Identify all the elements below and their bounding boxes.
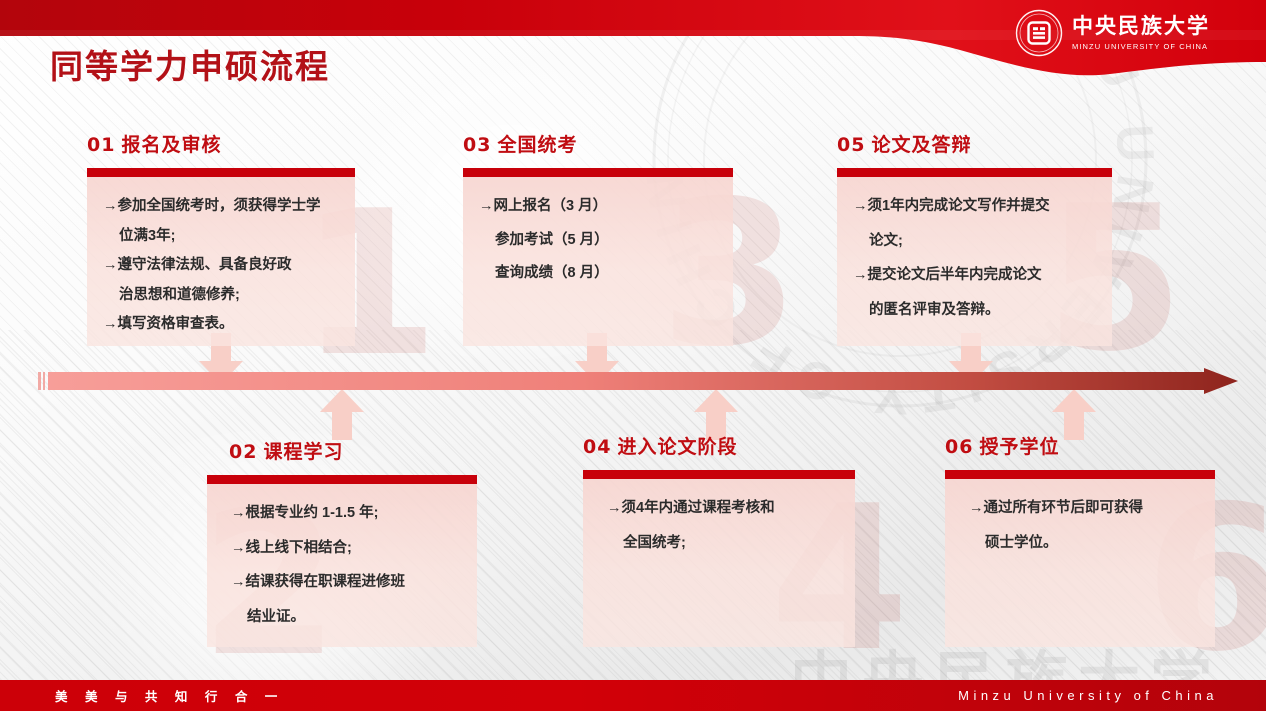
- step-card-05-header: 05论文及答辩: [837, 130, 1112, 157]
- step-line: 治思想和道德修养;: [103, 288, 339, 303]
- step-line: →根据专业约 1-1.5 年;: [231, 506, 461, 521]
- step-card-01-header: 01报名及审核: [87, 130, 355, 157]
- step-line: 位满3年;: [103, 229, 339, 244]
- step-number: 01: [87, 134, 115, 156]
- step-line: 的匿名评审及答辩。: [853, 303, 1096, 318]
- step-line: →提交论文后半年内完成论文: [853, 268, 1096, 283]
- step-line: →遵守法律法规、具备良好政: [103, 258, 339, 273]
- step-card-06-accent-bar: [945, 470, 1215, 479]
- step-line: →须4年内通过课程考核和: [607, 501, 839, 516]
- step-card-04-accent-bar: [583, 470, 855, 479]
- step-card-05-body: →须1年内完成论文写作并提交 论文; →提交论文后半年内完成论文 的匿名评审及答…: [837, 177, 1112, 346]
- step-line: →须1年内完成论文写作并提交: [853, 199, 1096, 214]
- step-name: 进入论文阶段: [617, 437, 737, 458]
- step-name: 授予学位: [979, 437, 1059, 458]
- university-seal-icon: [1015, 9, 1063, 57]
- step-card-02-body: →根据专业约 1-1.5 年; →线上线下相结合; →结课获得在职课程进修班 结…: [207, 484, 477, 647]
- step-name: 论文及答辩: [871, 135, 971, 156]
- step-card-01-body: →参加全国统考时，须获得学士学 位满3年; →遵守法律法规、具备良好政 治思想和…: [87, 177, 355, 346]
- page-title: 同等学力申硕流程: [50, 40, 330, 88]
- logo-name-cn: 中央民族大学: [1072, 16, 1210, 37]
- step-line: →填写资格审查表。: [103, 317, 339, 332]
- step-line: 硕士学位。: [969, 536, 1199, 551]
- timeline-arrow: [38, 368, 1238, 394]
- step-number: 05: [837, 134, 865, 156]
- step-line: →结课获得在职课程进修班: [231, 575, 461, 590]
- step-number: 02: [229, 441, 257, 463]
- step-card-02-accent-bar: [207, 475, 477, 484]
- footer-bar: 美 美 与 共 知 行 合 一 Minzu University of Chin…: [0, 680, 1266, 711]
- step-number: 06: [945, 436, 973, 458]
- step-card-02[interactable]: 02课程学习 →根据专业约 1-1.5 年; →线上线下相结合; →结课获得在职…: [207, 437, 477, 647]
- step-card-06-body: →通过所有环节后即可获得 硕士学位。: [945, 479, 1215, 647]
- step-line: →通过所有环节后即可获得: [969, 501, 1199, 516]
- step-number: 03: [463, 134, 491, 156]
- step-card-06[interactable]: 06授予学位 →通过所有环节后即可获得 硕士学位。: [945, 432, 1215, 647]
- step-card-01-accent-bar: [87, 168, 355, 177]
- step-card-03-header: 03全国统考: [463, 130, 733, 157]
- step-card-03-accent-bar: [463, 168, 733, 177]
- step-card-05-accent-bar: [837, 168, 1112, 177]
- step-line: →线上线下相结合;: [231, 541, 461, 556]
- step-line: →网上报名（3 月）: [479, 199, 717, 214]
- step-name: 课程学习: [263, 442, 343, 463]
- step-number: 04: [583, 436, 611, 458]
- step-card-06-header: 06授予学位: [945, 432, 1215, 459]
- footer-motto: 美 美 与 共 知 行 合 一: [55, 686, 284, 705]
- step-card-05[interactable]: 05论文及答辩 →须1年内完成论文写作并提交 论文; →提交论文后半年内完成论文…: [837, 130, 1112, 346]
- step-line: 参加考试（5 月）: [479, 233, 717, 248]
- step-card-03-body: →网上报名（3 月） 参加考试（5 月） 查询成绩（8 月）: [463, 177, 733, 346]
- step-line: 结业证。: [231, 610, 461, 625]
- step-card-04-body: →须4年内通过课程考核和 全国统考;: [583, 479, 855, 647]
- footer-university-name: Minzu University of China: [958, 688, 1218, 703]
- step-line: 论文;: [853, 234, 1096, 249]
- step-line: 查询成绩（8 月）: [479, 266, 717, 281]
- step-card-04[interactable]: 04进入论文阶段 →须4年内通过课程考核和 全国统考;: [583, 432, 855, 647]
- step-name: 全国统考: [497, 135, 577, 156]
- university-logo: 中央民族大学 MINZU UNIVERSITY OF CHINA: [1015, 9, 1210, 57]
- logo-name-en: MINZU UNIVERSITY OF CHINA: [1072, 43, 1210, 51]
- step-line: 全国统考;: [607, 536, 839, 551]
- connector-arrow-up-1: [318, 388, 366, 440]
- step-name: 报名及审核: [121, 135, 221, 156]
- step-card-03[interactable]: 03全国统考 →网上报名（3 月） 参加考试（5 月） 查询成绩（8 月）: [463, 130, 733, 346]
- step-card-02-header: 02课程学习: [229, 437, 477, 464]
- slide-canvas: MINZU UNIVERSITY OF CHINA 中央民族大学 1 2 3 4…: [0, 0, 1266, 711]
- step-card-04-header: 04进入论文阶段: [583, 432, 855, 459]
- step-line: →参加全国统考时，须获得学士学: [103, 199, 339, 214]
- step-card-01[interactable]: 01报名及审核 →参加全国统考时，须获得学士学 位满3年; →遵守法律法规、具备…: [87, 130, 355, 346]
